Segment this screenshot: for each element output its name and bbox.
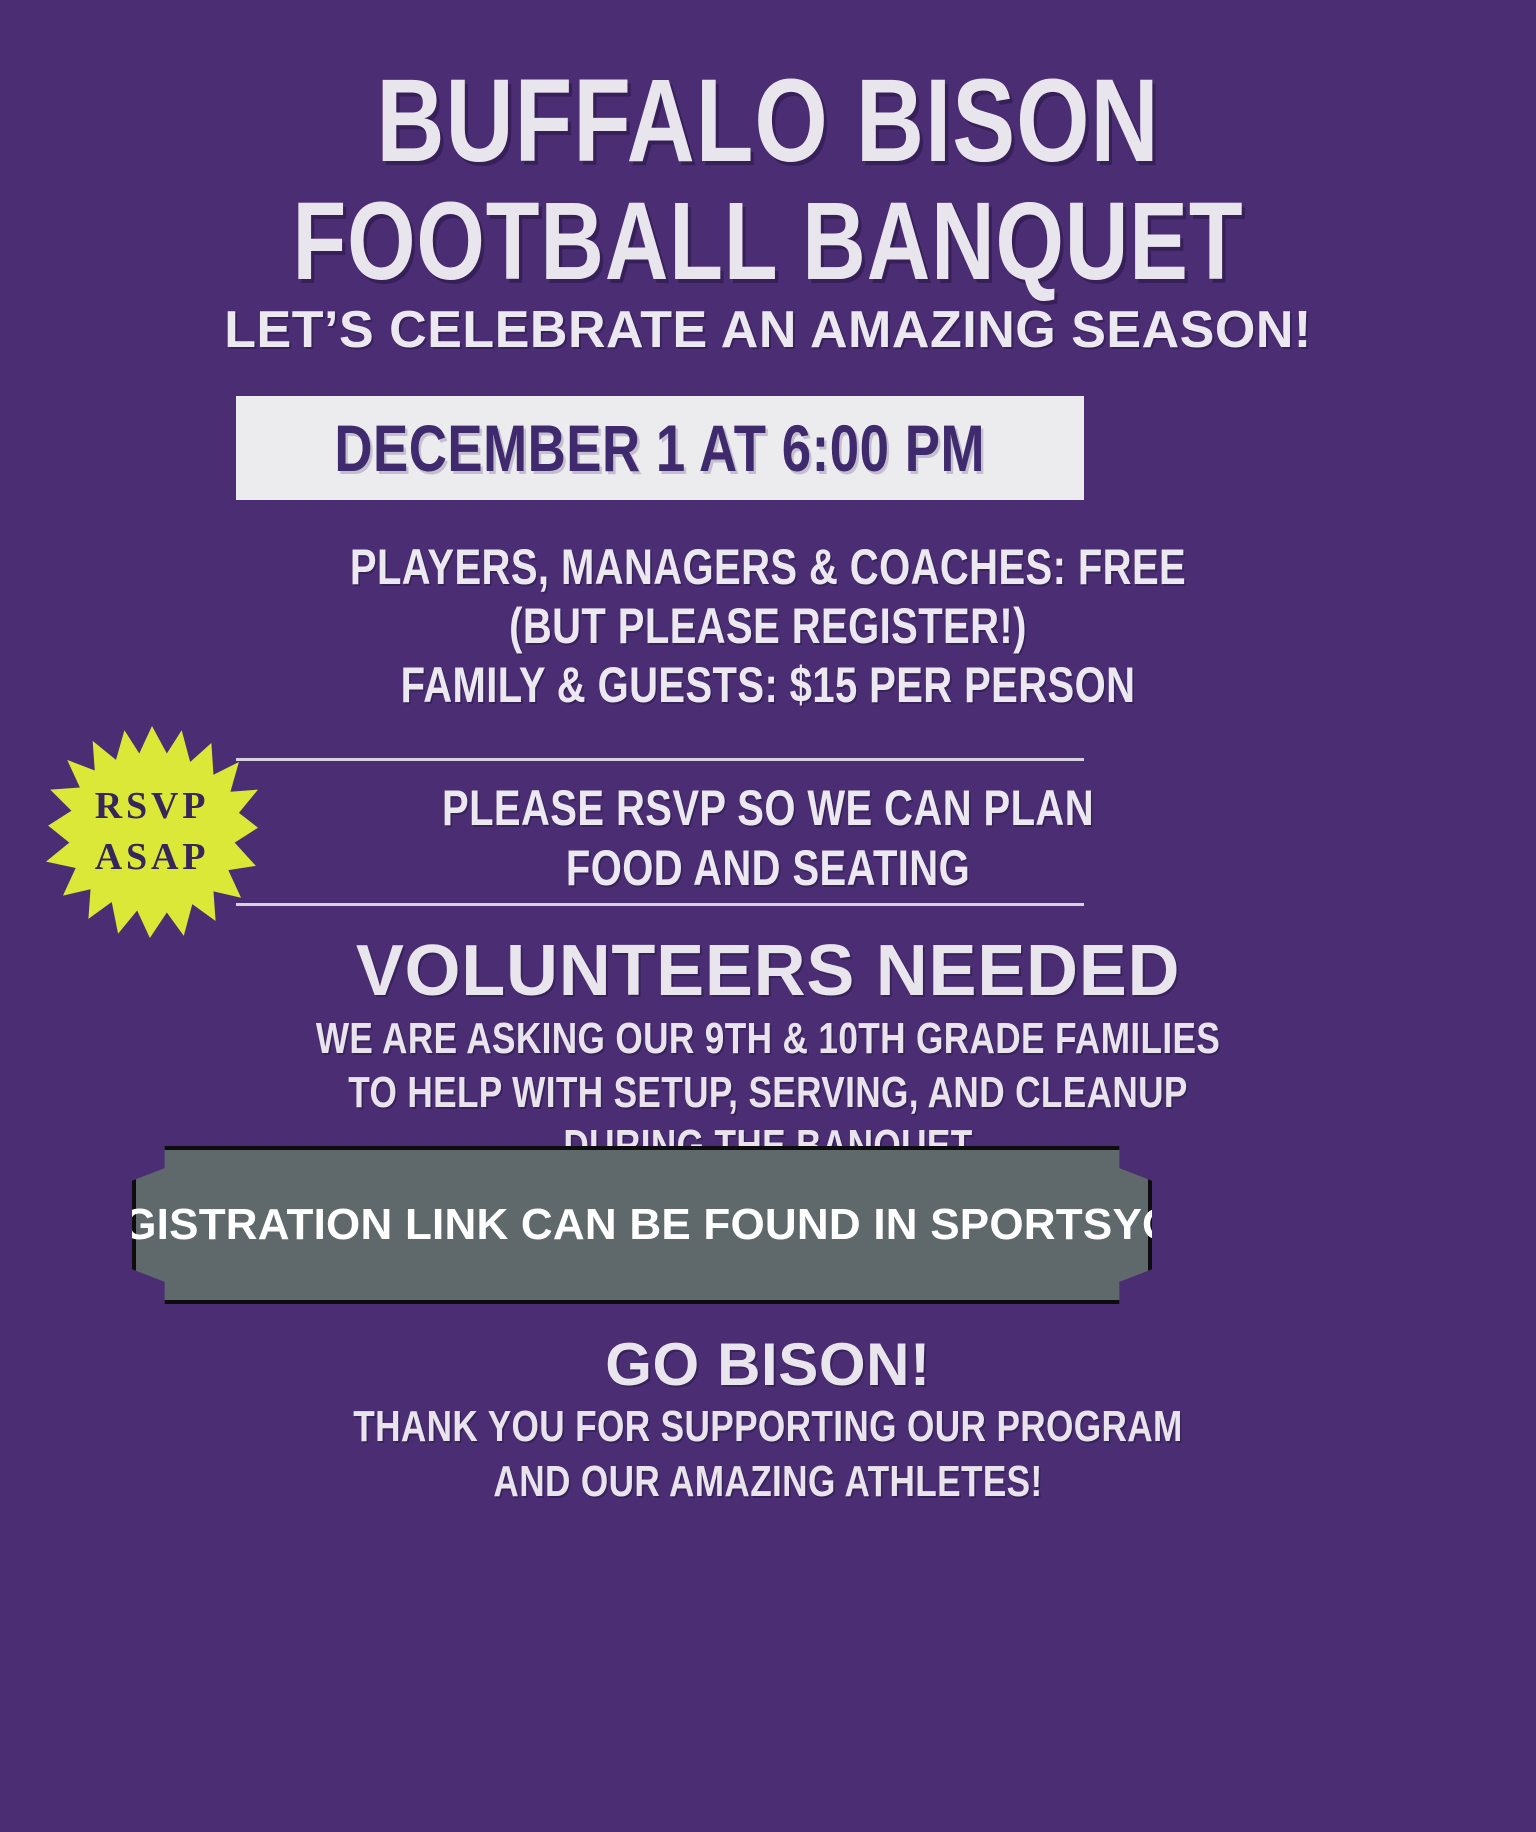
divider-top <box>236 758 1084 761</box>
rsvp-line-1: PLEASE RSVP SO WE CAN PLAN <box>154 778 1383 838</box>
cheer-label: GO BISON! <box>605 1331 930 1398</box>
cheer-text: GO BISON! <box>0 1330 1536 1399</box>
registration-banner-text: REGISTRATION LINK CAN BE FOUND IN SPORTS… <box>61 1200 1224 1250</box>
volunteers-heading: VOLUNTEERS NEEDED <box>0 930 1536 1012</box>
rsvp-line-2: FOOD AND SEATING <box>154 838 1383 898</box>
date-banner-text: DECEMBER 1 AT 6:00 PM <box>335 410 986 486</box>
banquet-flyer: BUFFALO BISON FOOTBALL BANQUET LET’S CEL… <box>0 0 1536 1832</box>
closing-line-2: AND OUR AMAZING ATHLETES! <box>154 1455 1383 1510</box>
starburst-icon: RSVP ASAP <box>46 726 258 938</box>
title-line-1: BUFFALO BISON <box>154 62 1383 180</box>
pricing-line-3: FAMILY & GUESTS: $15 PER PERSON <box>154 656 1383 715</box>
subtitle-text: LET’S CELEBRATE AN AMAZING SEASON! <box>224 301 1312 359</box>
closing-line-1: THANK YOU FOR SUPPORTING OUR PROGRAM <box>154 1400 1383 1455</box>
badge-line-1: RSVP <box>95 781 209 832</box>
page-title: BUFFALO BISON FOOTBALL BANQUET <box>0 62 1536 300</box>
registration-banner[interactable]: REGISTRATION LINK CAN BE FOUND IN SPORTS… <box>132 1146 1152 1304</box>
subtitle: LET’S CELEBRATE AN AMAZING SEASON! <box>0 300 1536 360</box>
volunteers-line-2: TO HELP WITH SETUP, SERVING, AND CLEANUP <box>154 1066 1383 1120</box>
badge-line-2: ASAP <box>95 832 209 883</box>
closing-block: THANK YOU FOR SUPPORTING OUR PROGRAM AND… <box>0 1400 1536 1509</box>
pricing-line-1: PLAYERS, MANAGERS & COACHES: FREE <box>154 538 1383 597</box>
pricing-line-2: (BUT PLEASE REGISTER!) <box>154 597 1383 656</box>
title-line-2: FOOTBALL BANQUET <box>154 184 1383 300</box>
date-banner: DECEMBER 1 AT 6:00 PM <box>236 396 1084 500</box>
divider-bottom <box>236 903 1084 906</box>
volunteers-heading-text: VOLUNTEERS NEEDED <box>356 931 1180 1011</box>
pricing-block: PLAYERS, MANAGERS & COACHES: FREE (BUT P… <box>0 538 1536 715</box>
volunteers-line-1: WE ARE ASKING OUR 9TH & 10TH GRADE FAMIL… <box>154 1012 1383 1066</box>
